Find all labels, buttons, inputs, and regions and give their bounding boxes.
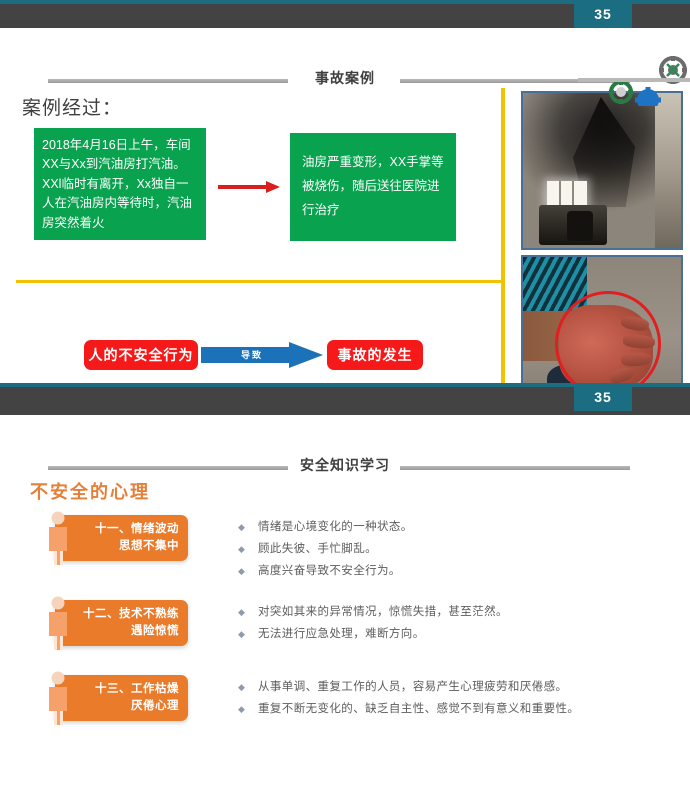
slide1-title-row: 事故案例 — [0, 68, 690, 90]
bullet: 从事单调、重复工作的人员，容易产生心理疲劳和厌倦感。 — [238, 679, 658, 696]
page-number-badge: 35 — [574, 383, 632, 411]
bullet: 重复不断无变化的、缺乏自主性、感觉不到有意义和重要性。 — [238, 701, 658, 718]
burned-room-photo — [521, 91, 683, 250]
burned-hand-photo — [521, 255, 683, 383]
slide2-title: 安全知识学习 — [295, 455, 395, 475]
item-pill-label-3: 十三、工作枯燥 厌倦心理 — [95, 681, 179, 715]
yellow-vertical-rule — [501, 88, 505, 383]
case-heading: 案例经过： — [22, 93, 122, 120]
title-rule-right — [400, 79, 630, 83]
bullet: 顾此失彼、手忙脚乱。 — [238, 541, 658, 558]
item-bullets-2: 对突如其来的异常情况，惊慌失措，甚至茫然。 无法进行应急处理，难断方向。 — [238, 604, 658, 648]
title-rule-left — [48, 79, 288, 83]
case-result-box: 油房严重变形，XX手掌等被烧伤，随后送往医院进行治疗 — [290, 133, 456, 241]
item-bullets-3: 从事单调、重复工作的人员，容易产生心理疲劳和厌倦感。 重复不断无变化的、缺乏自主… — [238, 679, 658, 723]
slide1-title: 事故案例 — [295, 68, 395, 88]
red-circle-annotation — [555, 291, 661, 383]
photo-window — [547, 181, 587, 208]
person-icon — [45, 510, 71, 566]
bullet: 对突如其来的异常情况，惊慌失措，甚至茫然。 — [238, 604, 658, 621]
page-number-badge: 35 — [574, 0, 632, 28]
slide-divider-top: 35 — [0, 0, 690, 28]
title-rule-left — [48, 466, 288, 470]
title-rule-right — [400, 466, 630, 470]
flow-cause-box: 人的不安全行为 — [84, 340, 198, 370]
item-pill-3: 十三、工作枯燥 厌倦心理 — [55, 675, 188, 721]
case-description-box: 2018年4月16日上午，车间XX与Xx到汽油房打汽油。XXl临时有离开，Xx独… — [34, 128, 206, 240]
photo-wall — [655, 93, 681, 248]
slide-safety-knowledge: 安全知识学习 不安全的心理 十一、情绪波动 思想不集中 情绪是心境变化的一种状态… — [0, 415, 690, 795]
bullet: 无法进行应急处理，难断方向。 — [238, 626, 658, 643]
slide2-title-row: 安全知识学习 — [0, 455, 690, 477]
item-pill-2: 十二、技术不熟练 遇险惊慌 — [55, 600, 188, 646]
item-pill-label-1: 十一、情绪波动 思想不集中 — [95, 521, 179, 555]
red-right-arrow-icon — [218, 181, 280, 193]
bullet: 高度兴奋导致不安全行为。 — [238, 563, 658, 580]
bullet: 情绪是心境变化的一种状态。 — [238, 519, 658, 536]
slide-accident-case: 事故案例 案例经过： 2018年4月16日上午，车间XX与Xx到汽油房打汽油。X… — [0, 28, 690, 383]
blue-right-arrow-icon: 导致 — [201, 342, 323, 368]
item-bullets-1: 情绪是心境变化的一种状态。 顾此失彼、手忙脚乱。 高度兴奋导致不安全行为。 — [238, 519, 658, 585]
slide-divider-middle: 35 — [0, 383, 690, 415]
flow-arrow-label: 导致 — [241, 348, 263, 361]
person-icon — [45, 670, 71, 726]
yellow-horizontal-rule — [16, 280, 502, 283]
flow-effect-box: 事故的发生 — [327, 340, 423, 370]
person-icon — [45, 595, 71, 651]
section-heading: 不安全的心理 — [30, 478, 150, 504]
item-pill-label-2: 十二、技术不熟练 遇险惊慌 — [83, 606, 179, 640]
item-pill-1: 十一、情绪波动 思想不集中 — [55, 515, 188, 561]
photo-drum — [567, 211, 593, 241]
